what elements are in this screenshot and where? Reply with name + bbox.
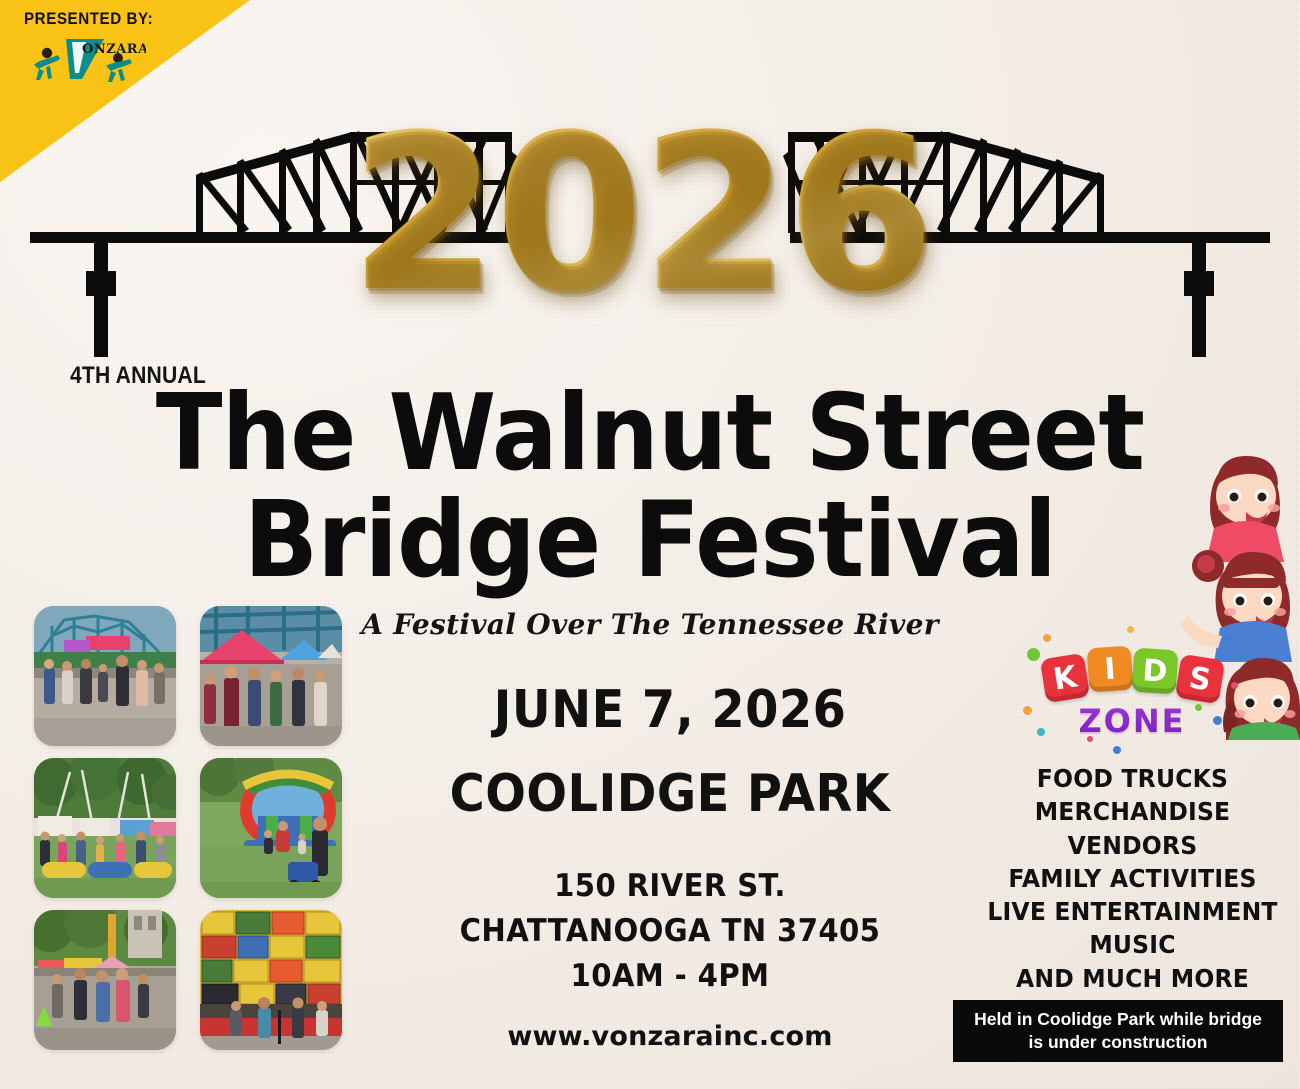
activities-list: FOOD TRUCKS MERCHANDISE VENDORS FAMILY A…	[975, 762, 1290, 995]
note-line-2: is under construction	[1029, 1032, 1208, 1052]
confetti-dot	[1043, 634, 1051, 642]
activity-item: MUSIC	[984, 928, 1280, 961]
kids-block-i: I	[1087, 646, 1134, 693]
presented-by-banner: PRESENTED BY: ONZARA	[0, 0, 250, 182]
kids-blocks: K I D S	[1035, 640, 1235, 708]
presented-by-label: PRESENTED BY:	[24, 10, 153, 29]
photo-bungee-trampoline	[34, 758, 176, 898]
kids-block-s: S	[1175, 654, 1225, 704]
photo-grid	[34, 606, 364, 1076]
confetti-dot	[1027, 648, 1040, 661]
confetti-dot	[1127, 626, 1134, 633]
vonzara-logo: ONZARA	[26, 33, 146, 87]
event-date: JUNE 7, 2026	[403, 680, 937, 740]
kids-zone-label: ZONE	[1057, 702, 1207, 740]
event-address: 150 RIVER ST. CHATTANOOGA TN 37405 10AM …	[380, 864, 960, 999]
confetti-dot	[1023, 706, 1032, 715]
year-text: 2026	[349, 106, 931, 321]
activity-item: LIVE ENTERTAINMENT	[984, 895, 1280, 928]
confetti-dot	[1223, 634, 1232, 643]
photo-street-festival	[34, 910, 176, 1050]
photo-vendor-tents	[200, 606, 342, 746]
photo-bounce-house	[200, 758, 342, 898]
activity-item: AND MUCH MORE	[984, 962, 1280, 995]
event-hours: 10AM - 4PM	[397, 954, 942, 999]
confetti-dot	[1213, 716, 1222, 725]
title-line-2: Bridge Festival	[46, 489, 1255, 592]
activity-item: FAMILY ACTIVITIES	[984, 862, 1280, 895]
page-title: The Walnut Street Bridge Festival	[0, 382, 1300, 592]
year-2026: 2026	[340, 96, 940, 331]
activity-item: MERCHANDISE VENDORS	[984, 795, 1280, 862]
construction-note: Held in Coolidge Park while bridge is un…	[953, 1000, 1283, 1062]
confetti-dot	[1087, 736, 1093, 742]
note-line-1: Held in Coolidge Park while bridge	[974, 1009, 1262, 1029]
confetti-dot	[1195, 704, 1202, 711]
activity-item: FOOD TRUCKS	[984, 762, 1280, 795]
event-details: JUNE 7, 2026 COOLIDGE PARK 150 RIVER ST.…	[380, 680, 960, 1052]
festival-poster: PRESENTED BY: ONZARA	[0, 0, 1300, 1089]
kids-block-d: D	[1132, 648, 1179, 695]
confetti-dot	[1231, 682, 1238, 689]
construction-note-text: Held in Coolidge Park while bridge is un…	[974, 1008, 1262, 1054]
kids-block-k: K	[1040, 653, 1090, 703]
confetti-dot	[1037, 728, 1045, 736]
event-venue: COOLIDGE PARK	[403, 764, 937, 824]
vonzara-wordmark: ONZARA	[82, 42, 146, 57]
kids-zone-logo: K I D S ZONE	[1035, 640, 1235, 758]
title-line-1: The Walnut Street	[46, 382, 1255, 485]
website-link[interactable]: www.vonzarainc.com	[380, 1021, 960, 1052]
confetti-dot	[1113, 746, 1121, 754]
address-line-1: 150 RIVER ST.	[397, 864, 942, 909]
photo-bridge-crowd	[34, 606, 176, 746]
photo-food-stand	[200, 910, 342, 1050]
address-line-2: CHATTANOOGA TN 37405	[397, 909, 942, 954]
